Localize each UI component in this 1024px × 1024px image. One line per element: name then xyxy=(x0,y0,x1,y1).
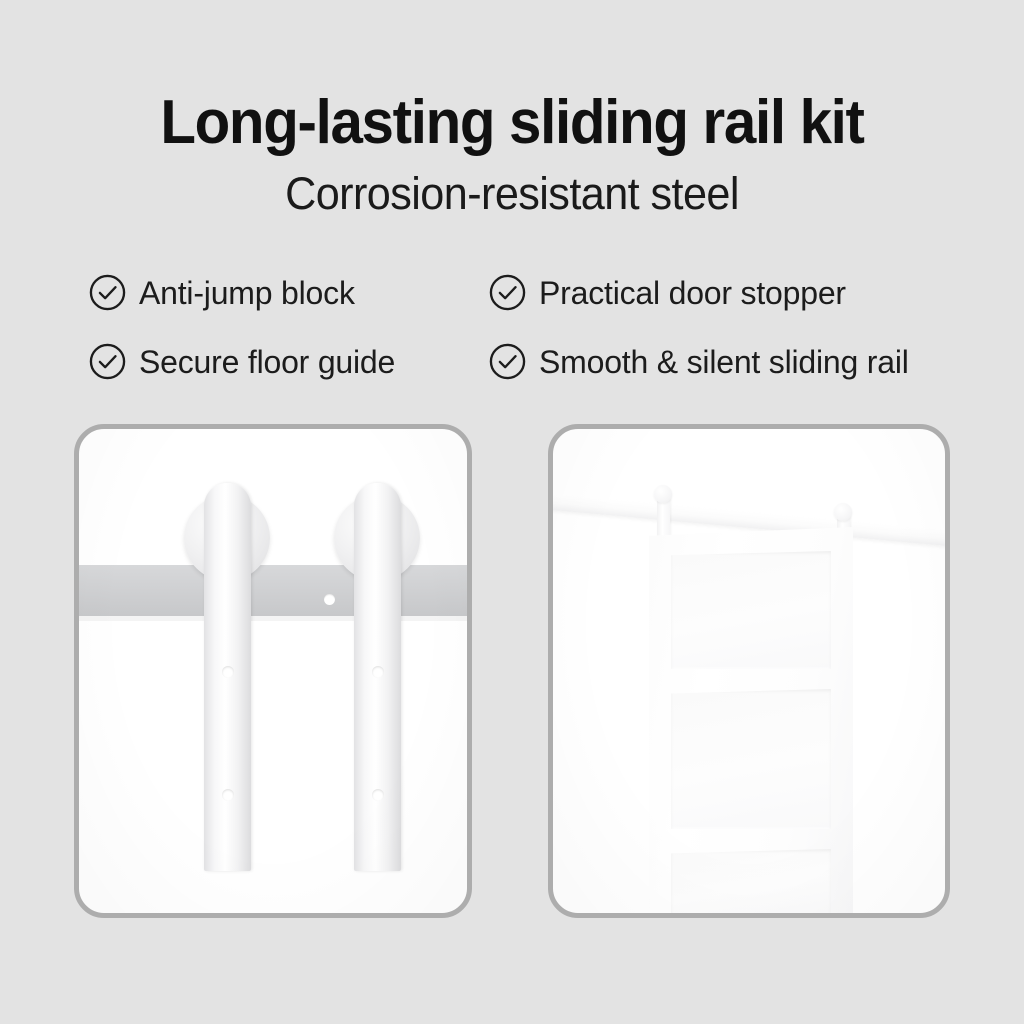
hanger-strap xyxy=(204,483,251,871)
feature-label: Secure floor guide xyxy=(139,346,395,378)
page-subtitle: Corrosion-resistant steel xyxy=(20,154,1003,216)
page-title: Long-lasting sliding rail kit xyxy=(31,0,994,154)
installed-door-scene xyxy=(553,429,945,913)
strap-screw-hole xyxy=(222,666,234,678)
installed-door-photo xyxy=(548,424,950,918)
door-recessed-panel xyxy=(671,849,831,913)
roller-wheel xyxy=(834,503,852,521)
check-circle-icon xyxy=(88,342,127,381)
feature-item-secure-floor-guide: Secure floor guide xyxy=(88,342,488,381)
strap-screw-hole xyxy=(372,666,384,678)
check-circle-icon xyxy=(88,273,127,312)
feature-list: Anti-jump block Practical door stopper S… xyxy=(88,258,968,396)
feature-label: Anti-jump block xyxy=(139,277,355,309)
door-recessed-panel xyxy=(671,689,831,829)
header: Long-lasting sliding rail kit Corrosion-… xyxy=(0,0,1024,216)
feature-item-practical-door-stopper: Practical door stopper xyxy=(488,273,948,312)
strap-screw-hole xyxy=(372,789,384,801)
roller-wheel xyxy=(654,485,672,503)
hardware-scene xyxy=(79,429,467,913)
feature-item-smooth-silent-sliding-rail: Smooth & silent sliding rail xyxy=(488,342,948,381)
door-slab xyxy=(649,527,853,913)
hanger-strap xyxy=(354,483,401,871)
rail-track xyxy=(79,565,467,616)
door-recessed-panel xyxy=(671,551,831,669)
feature-item-anti-jump-block: Anti-jump block xyxy=(88,273,488,312)
feature-label: Practical door stopper xyxy=(539,277,846,309)
strap-screw-hole xyxy=(222,789,234,801)
check-circle-icon xyxy=(488,273,527,312)
hardware-closeup-photo xyxy=(74,424,472,918)
photo-vignette xyxy=(79,429,467,913)
rail-screw-hole xyxy=(324,594,335,605)
feature-label: Smooth & silent sliding rail xyxy=(539,346,909,378)
check-circle-icon xyxy=(488,342,527,381)
